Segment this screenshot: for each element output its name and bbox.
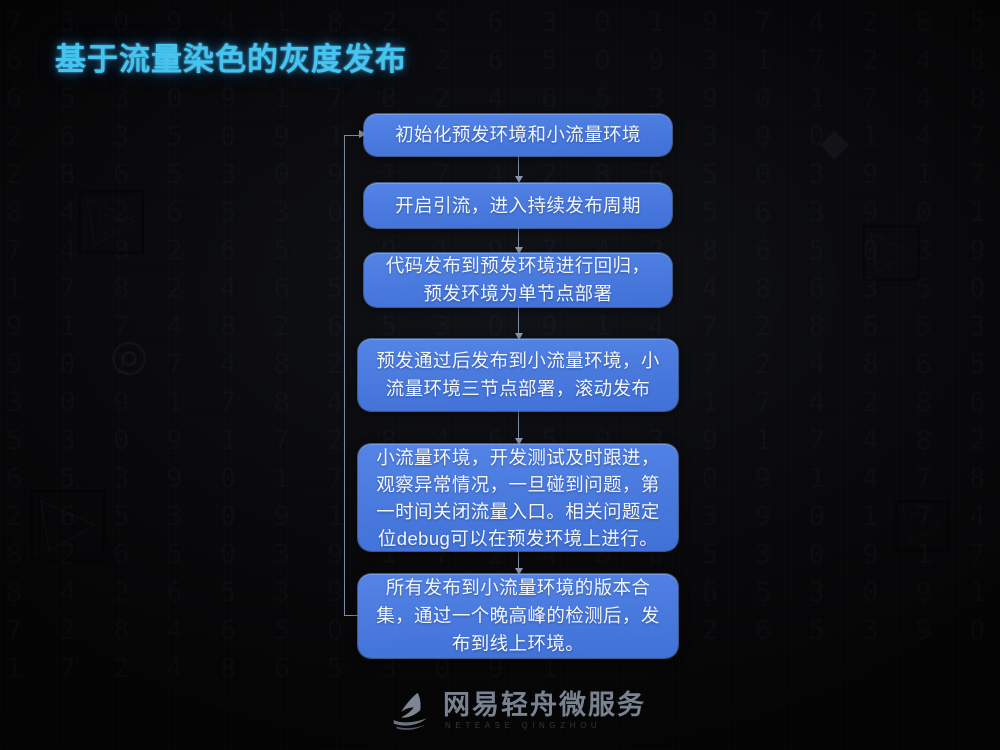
brand-name-en: NETEASE QINGZHOU	[443, 720, 646, 732]
flow-node-deploy-small[interactable]: 预发通过后发布到小流量环境，小流量环境三节点部署，滚动发布	[358, 339, 678, 411]
flow-node-label: 开启引流，进入持续发布周期	[380, 192, 656, 220]
flow-node-label: 初始化预发环境和小流量环境	[380, 121, 656, 149]
flow-node-init-env[interactable]: 初始化预发环境和小流量环境	[364, 114, 672, 156]
flow-node-start-traffic[interactable]: 开启引流，进入持续发布周期	[364, 183, 672, 228]
connector-arrow-2	[518, 228, 519, 253]
brand-logo: 网易轻舟微服务 NETEASE QINGZHOU	[390, 690, 646, 732]
flow-node-monitor-small[interactable]: 小流量环境，开发测试及时跟进，观察异常情况，一旦碰到问题，第一时间关闭流量入口。…	[358, 444, 678, 551]
flow-node-label: 小流量环境，开发测试及时跟进，观察异常情况，一旦碰到问题，第一时间关闭流量入口。…	[374, 444, 662, 552]
connector-arrow-1	[518, 156, 519, 182]
qingzhou-boat-icon	[390, 690, 434, 732]
flowchart: 初始化预发环境和小流量环境 开启引流，进入持续发布周期 代码发布到预发环境进行回…	[0, 0, 1000, 750]
flow-node-label: 预发通过后发布到小流量环境，小流量环境三节点部署，滚动发布	[374, 347, 662, 403]
flow-node-deploy-pre[interactable]: 代码发布到预发环境进行回归，预发环境为单节点部署	[364, 253, 672, 307]
connector-arrow-3	[518, 307, 519, 339]
connector-arrow-5	[518, 551, 519, 574]
flow-node-label: 代码发布到预发环境进行回归，预发环境为单节点部署	[380, 252, 656, 308]
connector-arrow-4	[518, 411, 519, 444]
flow-node-label: 所有发布到小流量环境的版本合集，通过一个晚高峰的检测后，发布到线上环境。	[374, 574, 662, 658]
brand-name-cn: 网易轻舟微服务	[443, 690, 646, 720]
slide-root: 7 3 0 9 4 1 8 2 5 6 3 0 1 9 7 4 2 8 5 6 …	[0, 0, 1000, 750]
flow-node-release-online[interactable]: 所有发布到小流量环境的版本合集，通过一个晚高峰的检测后，发布到线上环境。	[358, 574, 678, 658]
brand-text: 网易轻舟微服务 NETEASE QINGZHOU	[443, 690, 646, 732]
